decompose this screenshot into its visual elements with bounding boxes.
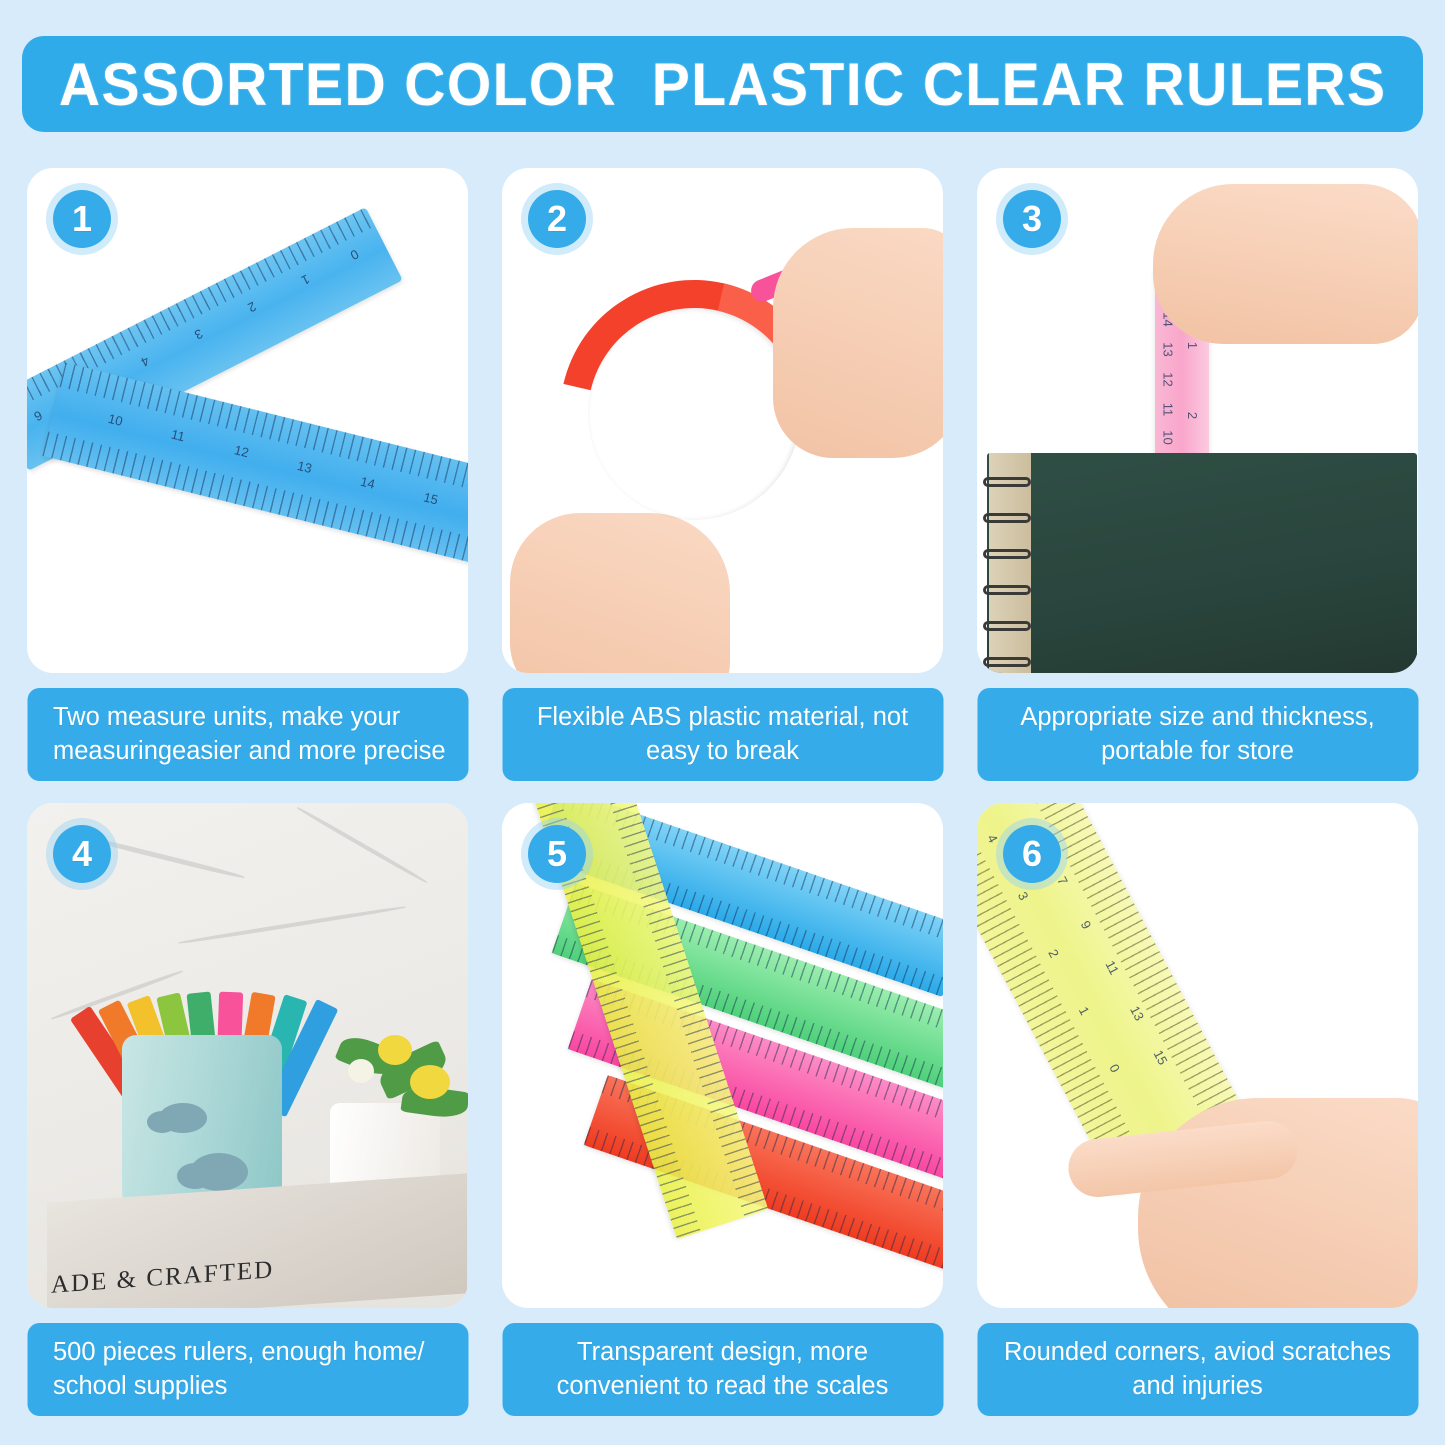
spiral-ring [983,513,1031,523]
spiral-ring [983,477,1031,487]
hand [1153,184,1418,344]
feature-cell-4: ADE & CRAFTED 4 500 pieces rulers, enoug… [10,803,485,1438]
spiral-ring [983,657,1031,667]
header-banner: ASSORTED COLOR PLASTIC CLEAR RULERS [22,36,1423,132]
feature-caption-2: Flexible ABS plastic material, not easy … [502,688,943,781]
feature-photo-3: 15 14 13 12 11 10 1 2 [977,168,1418,673]
feature-caption-1: Two measure units, make your measuringea… [27,688,468,781]
feature-caption-3: Appropriate size and thickness, portable… [977,688,1418,781]
feature-badge-6: 6 [1003,825,1061,883]
cloud-cutout [177,1163,213,1189]
feature-caption-5: Transparent design, more convenient to r… [502,1323,943,1416]
ruler-blue-cm: 10 11 12 13 14 15 0 [42,363,468,570]
feature-photo-1: 6 5 4 3 2 1 0 10 11 12 13 14 15 [27,168,468,673]
feature-badge-4: 4 [53,825,111,883]
spiral-ring [983,585,1031,595]
feature-cell-6: 4 3 2 1 0 5 7 9 11 13 15 6 Rounded corne… [960,803,1435,1438]
feature-photo-5: 5 [502,803,943,1308]
cloud-cutout [147,1111,177,1133]
feature-grid: 6 5 4 3 2 1 0 10 11 12 13 14 15 [0,168,1445,1438]
feature-caption-6: Rounded corners, aviod scratches and inj… [977,1323,1418,1416]
right-hand [773,228,943,458]
feature-badge-3: 3 [1003,190,1061,248]
feature-photo-4: ADE & CRAFTED 4 [27,803,468,1308]
feature-cell-2: 2 Flexible ABS plastic material, not eas… [485,168,960,803]
feature-photo-6: 4 3 2 1 0 5 7 9 11 13 15 6 [977,803,1418,1308]
spiral-ring [983,621,1031,631]
ruler-ticks [60,363,468,501]
feature-badge-2: 2 [528,190,586,248]
notebook [987,453,1417,673]
spiral-ring [983,549,1031,559]
feature-caption-4: 500 pieces rulers, enough home/ school s… [27,1323,468,1416]
feature-cell-3: 15 14 13 12 11 10 1 2 [960,168,1435,803]
feature-cell-5: 5 Transparent design, more convenient to… [485,803,960,1438]
page-title: ASSORTED COLOR PLASTIC CLEAR RULERS [59,50,1387,119]
feature-badge-5: 5 [528,825,586,883]
feature-cell-1: 6 5 4 3 2 1 0 10 11 12 13 14 15 [10,168,485,803]
feature-photo-2: 2 [502,168,943,673]
feature-badge-1: 1 [53,190,111,248]
